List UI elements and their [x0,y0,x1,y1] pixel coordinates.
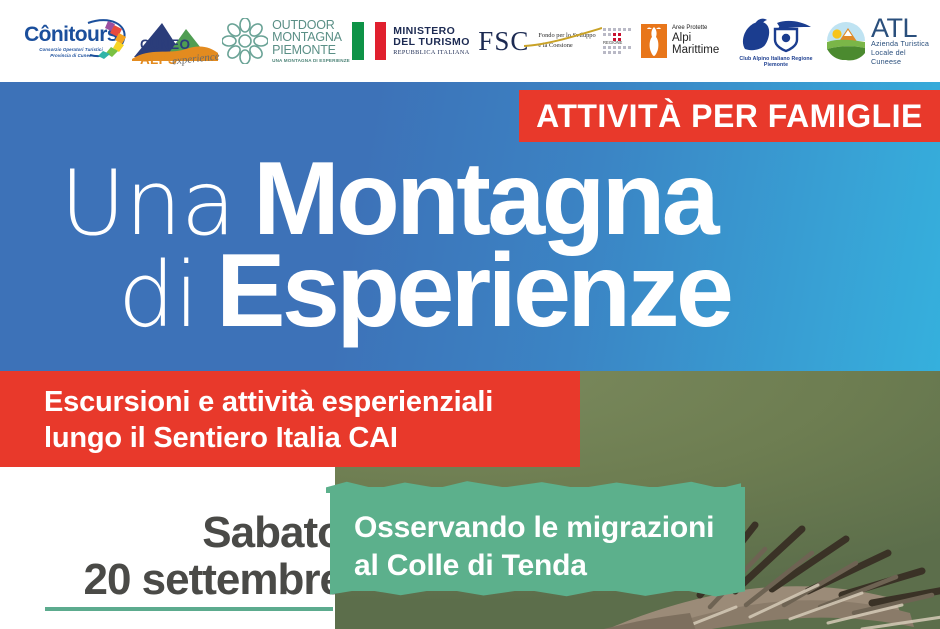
status-badge-attivita-famiglie: ATTIVITÀ PER FAMIGLIE [519,90,940,142]
atl-acronym: ATL [871,16,936,40]
event-green-block: Osservando le migrazioni al Colle di Ten… [330,487,745,591]
event-title: Osservando le migrazioni al Colle di Ten… [354,509,714,586]
logo-outdoor-montagna-piemonte: OUTDOOR MONTAGNA PIEMONTE UNA MONTAGNA D… [222,14,350,68]
title-word-di: di [118,243,198,348]
sponsor-logo-bar: Cônitours Consorzio Operatori Turistici … [0,0,940,82]
subtitle-line-1: Escursioni e attività esperienziali [44,385,580,421]
atl-wordmark: ATL Azienda Turistica Locale del Cuneese [871,16,936,67]
conitours-swoosh-icon [84,17,128,61]
date-day-month: 20 settembre [84,558,343,602]
logo-cuneo-alps: CUNEO ALPS experience [126,13,222,69]
subtitle-line-2: lungo il Sentiero Italia CAI [44,421,580,457]
cai-caption: Club Alpino Italiano Regione Piemonte [728,56,824,68]
title-line-2: diEsperienze [0,242,940,342]
logo-atl: ATL Azienda Turistica Locale del Cuneese [824,16,936,66]
logo-fsc: FSC Fondo per lo Sviluppo e la Coesione [472,18,602,64]
badge-label: ATTIVITÀ PER FAMIGLIE [536,100,923,132]
alpi-line2: Alpi Marittime [672,32,728,57]
event-title-line-1: Osservando le migrazioni [354,509,714,547]
logo-cai: Club Alpino Italiano Regione Piemonte [728,13,824,69]
event-title-line-2: al Colle di Tenda [354,547,714,585]
omp-tagline: UNA MONTAGNA DI ESPERIENZE [272,58,350,63]
italian-flag-icon [352,22,386,60]
fsc-acronym: FSC [478,28,529,55]
ministero-line3: REPUBBLICA ITALIANA [393,50,470,57]
date-underline-rule [45,607,333,611]
event-date: Sabato 20 settembre [84,511,343,602]
logo-conitours: Cônitours Consorzio Operatori Turistici … [16,15,126,67]
ministero-wordmark: MINISTERO DEL TURISMO REPUBBLICA ITALIAN… [393,26,470,57]
atl-landscape-icon [824,21,868,61]
omp-line3: PIEMONTE [272,44,350,57]
date-weekday: Sabato [84,511,343,555]
fsc-swoosh-icon [524,27,602,49]
logo-alpi-marittime: REGIONE Aree Protette Alpi Marittime [602,19,728,63]
cai-eagle-shield-icon [731,15,821,55]
title-word-una: Una [60,151,235,256]
ibex-icon [641,24,667,58]
subtitle-red-block: Escursioni e attività esperienziali lung… [0,371,580,467]
poster: Cônitours Consorzio Operatori Turistici … [0,0,940,629]
cuneo-alps-line1: CUNEO [140,38,190,52]
date-panel: Sabato 20 settembre [0,467,335,629]
ministero-line2: DEL TURISMO [393,37,470,48]
omp-line2: MONTAGNA [272,31,350,44]
page-title: UnaMontagna diEsperienze [0,150,940,342]
regione-piemonte-icon: REGIONE [602,26,636,56]
omp-flower-icon [222,18,268,64]
alpi-line1: Aree Protette [672,25,728,32]
omp-wordmark: OUTDOOR MONTAGNA PIEMONTE UNA MONTAGNA D… [272,19,350,64]
title-word-esperienze: Esperienze [216,233,730,349]
svg-text:REGIONE: REGIONE [603,40,623,45]
alpi-wordmark: Aree Protette Alpi Marittime [672,25,728,57]
logo-ministero-turismo: MINISTERO DEL TURISMO REPUBBLICA ITALIAN… [350,17,472,65]
atl-subtitle-line2: Locale del Cuneese [871,49,936,67]
